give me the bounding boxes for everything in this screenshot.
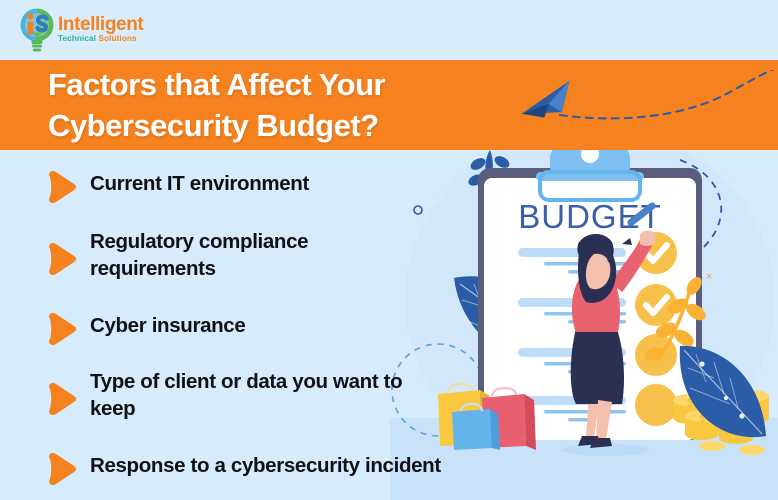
- page-title: Factors that Affect Your Cybersecurity B…: [48, 64, 568, 146]
- brand-logo-text: Intelligent Technical Solutions: [58, 15, 158, 44]
- list-item[interactable]: Current IT environment: [44, 170, 450, 204]
- list-item[interactable]: Type of client or data you want to keep: [44, 368, 420, 422]
- orange-arrow-bullet-icon: [44, 242, 78, 276]
- orange-arrow-bullet-icon: [44, 170, 78, 204]
- list-item[interactable]: Regulatory compliance requirements: [44, 228, 400, 282]
- list-item-label: Response to a cybersecurity incident: [90, 452, 570, 479]
- orange-arrow-bullet-icon: [44, 382, 78, 416]
- check-circle-4-icon: [635, 384, 677, 426]
- brand-logo[interactable]: Intelligent Technical Solutions: [14, 6, 144, 54]
- brand-tagline-technical: Technical: [58, 34, 98, 43]
- title-band: Factors that Affect Your Cybersecurity B…: [0, 60, 778, 150]
- list-item-label: Regulatory compliance requirements: [90, 228, 400, 282]
- logo-bar: Intelligent Technical Solutions: [0, 0, 778, 60]
- orange-arrow-bullet-icon: [44, 452, 78, 486]
- page-title-line2: Cybersecurity Budget?: [48, 105, 568, 146]
- list-item-label: Type of client or data you want to keep: [90, 368, 420, 422]
- page-title-line1: Factors that Affect Your: [48, 64, 568, 105]
- list-item-label: Current IT environment: [90, 170, 450, 197]
- svg-text:×: ×: [706, 271, 712, 283]
- lightbulb-is-logo-icon: [14, 6, 60, 54]
- brand-tagline-solutions: Solutions: [98, 34, 136, 43]
- brand-name: Intelligent: [58, 15, 158, 34]
- list-item[interactable]: Cyber insurance: [44, 312, 450, 346]
- list-item-label: Cyber insurance: [90, 312, 450, 339]
- orange-arrow-bullet-icon: [44, 312, 78, 346]
- list-item[interactable]: Response to a cybersecurity incident: [44, 452, 570, 486]
- infographic-root: Intelligent Technical Solutions Factors …: [0, 0, 778, 500]
- brand-tagline: Technical Solutions: [58, 34, 158, 44]
- svg-text:×: ×: [701, 150, 708, 151]
